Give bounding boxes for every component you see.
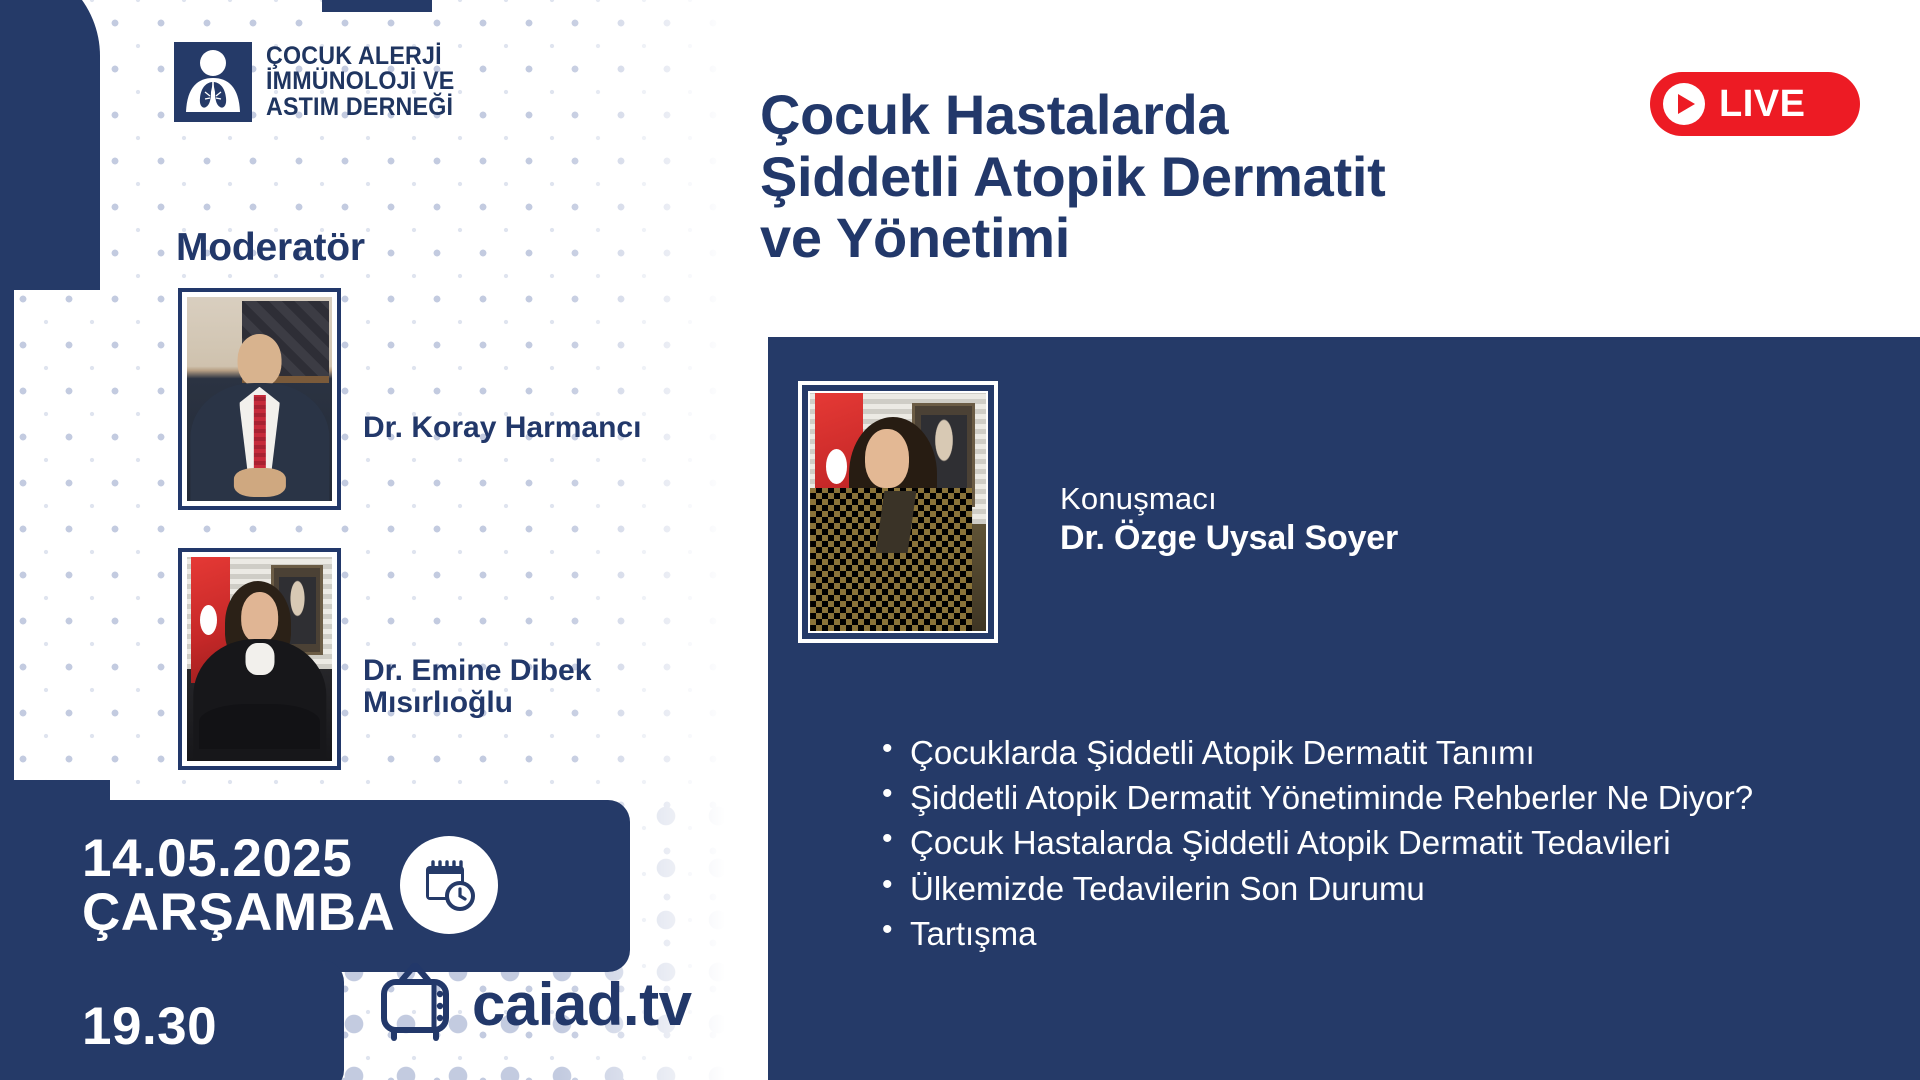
torso-lungs-icon <box>174 42 252 122</box>
topic-item: Tartışma <box>878 913 1898 955</box>
retro-tv-icon <box>378 962 464 1047</box>
topic-item: Çocuklarda Şiddetli Atopik Dermatit Tanı… <box>878 732 1898 774</box>
topic-item: Çocuk Hastalarda Şiddetli Atopik Dermati… <box>878 822 1898 864</box>
speaker-role: Konuşmacı <box>1060 481 1398 517</box>
website-url[interactable]: caiad.tv <box>472 970 691 1039</box>
topic-item: Şiddetli Atopik Dermatit Yönetiminde Reh… <box>878 777 1898 819</box>
decorative-shape-top-left <box>0 0 100 290</box>
calendar-clock-icon <box>400 836 498 934</box>
association-logo-text: ÇOCUK ALERJİ İMMÜNOLOJİ VE ASTIM DERNEĞİ <box>266 44 454 121</box>
event-time-pill: 19.30 <box>0 960 344 1080</box>
moderator-name-1: Dr. Emine Dibek Mısırlıoğlu <box>363 655 653 719</box>
topic-item: Ülkemizde Tedavilerin Son Durumu <box>878 868 1898 910</box>
speaker-name: Dr. Özge Uysal Soyer <box>1060 519 1398 558</box>
website-block[interactable]: caiad.tv <box>378 962 691 1047</box>
decorative-shape-left-strip <box>0 250 14 810</box>
play-icon <box>1663 83 1705 125</box>
speaker-text: Konuşmacı Dr. Özge Uysal Soyer <box>1060 481 1398 558</box>
moderator-label: Moderatör <box>176 226 365 270</box>
moderator-photo-0 <box>178 288 341 510</box>
decorative-shape-top-tab <box>322 0 432 12</box>
association-logo: ÇOCUK ALERJİ İMMÜNOLOJİ VE ASTIM DERNEĞİ <box>174 42 469 122</box>
event-date: 14.05.2025 ÇARŞAMBA <box>82 832 395 940</box>
moderator-photo-1 <box>178 548 341 770</box>
speaker-photo <box>798 381 998 643</box>
live-label: LIVE <box>1719 83 1805 126</box>
speaker-block: Konuşmacı Dr. Özge Uysal Soyer <box>798 381 1398 643</box>
event-date-pill: 14.05.2025 ÇARŞAMBA <box>0 800 630 972</box>
event-time: 19.30 <box>82 996 217 1057</box>
live-badge[interactable]: LIVE <box>1650 72 1860 136</box>
page-title: Çocuk Hastalarda Şiddetli Atopik Dermati… <box>760 84 1760 269</box>
topic-list: Çocuklarda Şiddetli Atopik Dermatit Tanı… <box>878 732 1898 958</box>
moderator-name-0: Dr. Koray Harmancı <box>363 412 653 444</box>
moderator-entry-0: Dr. Koray Harmancı <box>178 288 653 510</box>
moderator-entry-1: Dr. Emine Dibek Mısırlıoğlu <box>178 548 653 770</box>
speaker-panel: Konuşmacı Dr. Özge Uysal Soyer Çocuklard… <box>768 337 1920 1080</box>
